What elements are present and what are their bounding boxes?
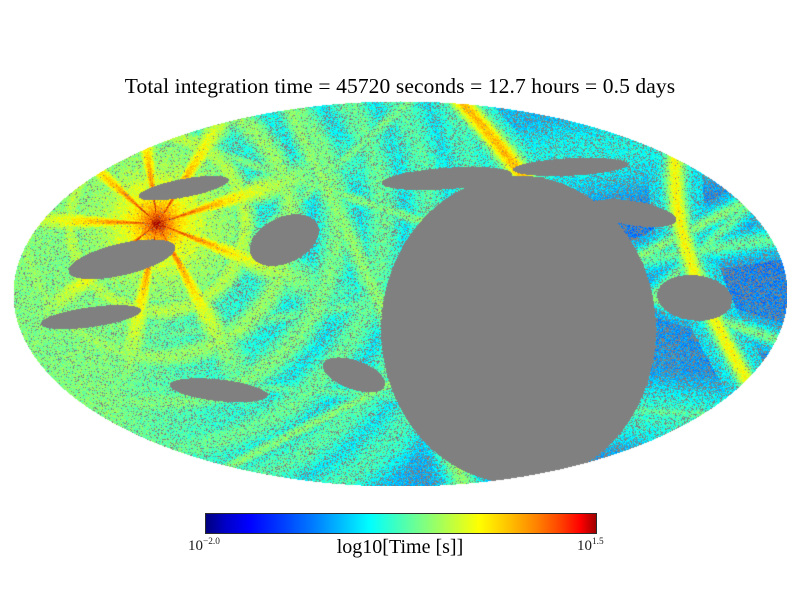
figure-canvas: Total integration time = 45720 seconds =… xyxy=(0,0,800,600)
colorbar-title-label: log10[Time [s]] xyxy=(0,536,800,559)
sky-map xyxy=(13,101,787,486)
colorbar: 10−2.0 101.5 log10[Time [s]] xyxy=(0,505,800,575)
mollweide-projection-canvas xyxy=(13,101,787,486)
page-title: Total integration time = 45720 seconds =… xyxy=(0,74,800,99)
colorbar-gradient xyxy=(205,513,597,534)
